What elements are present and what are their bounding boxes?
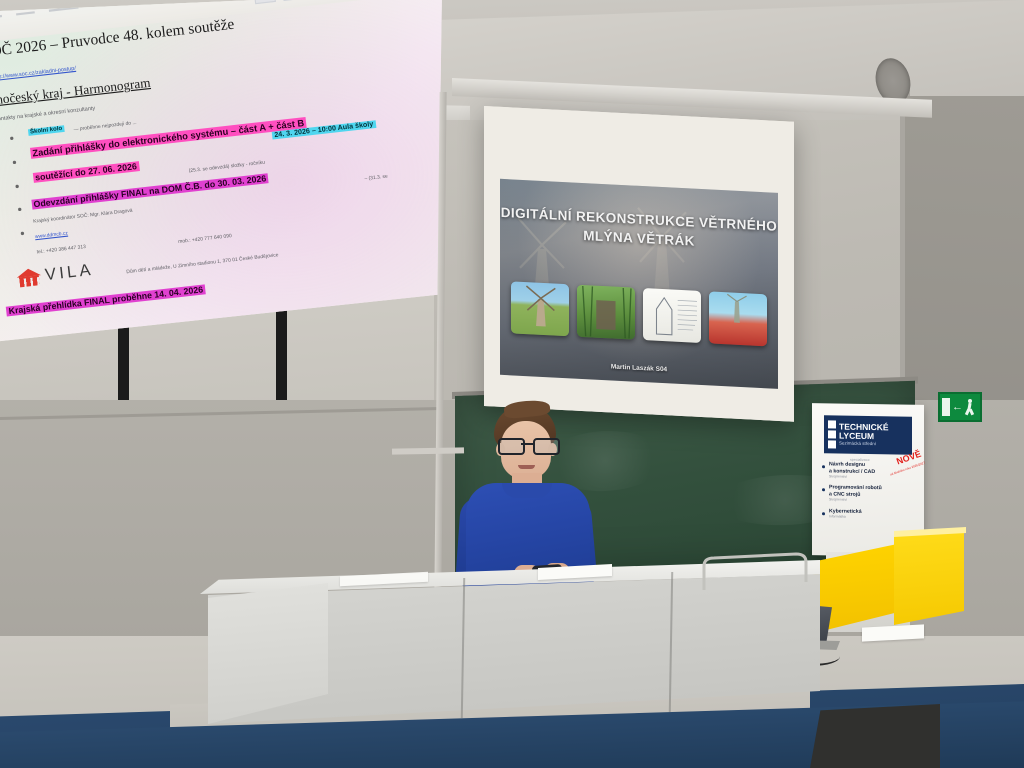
doc-line-1: Školní kolo: [28, 126, 65, 137]
presentation-slide: DIGITÁLNÍ REKONSTRUKCE VĚTRNÉHO MLÝNA VĚ…: [500, 179, 778, 389]
lecture-hall-photo: SOČ 2026 – Pruvodce 48. kolem soutěže ht…: [0, 0, 1024, 768]
poster-bullet-list: Návrh designu a konstrukcí / CAD Strojír…: [822, 461, 916, 526]
doc-org-address: Dům dětí a mládeže, U Zimního stadionu 1…: [126, 252, 279, 275]
doc-subheading-note: Kontakty na krajské a okresní konzultant…: [0, 106, 96, 124]
poster-bullet-2-sub: Strojírenství: [829, 498, 882, 503]
doc-contact-2: tel.: +420 386 447 313: [36, 243, 86, 254]
thumbnail-technical-drawing: [643, 288, 701, 343]
doc-line-7: Krajská přehlídka FINAL proběhne 14. 04.…: [6, 285, 206, 317]
doc-subheading: Jihočeský kraj - Harmonogram: [0, 75, 151, 110]
vila-logo: VILA: [16, 261, 95, 288]
doc-heading-link[interactable]: https://www.soc.cz/zakladni-postup/: [0, 65, 76, 81]
doc-line-1-note: — proběhne nejpozdeji do ...: [73, 119, 137, 132]
exit-door-icon: [942, 398, 950, 416]
house-icon: [16, 267, 42, 287]
floor-shadow-gap: [810, 704, 940, 768]
bullet-dot-icon: [822, 512, 825, 515]
collar: [502, 483, 552, 498]
doc-line-5-note: – (31.3. se: [364, 173, 388, 181]
poster-subtitle: Sezimácká střední: [839, 442, 889, 447]
bullet-dot-icon: [822, 489, 825, 492]
thumbnail-point-cloud-scan: [577, 285, 635, 340]
emergency-exit-sign: ←: [938, 392, 982, 422]
doc-line-4: soutěžící do 27. 06. 2026: [32, 161, 139, 183]
thumbnail-tulip-field-render: [709, 291, 767, 346]
doc-line-2: Zadání přihlášky do elektronického systé…: [30, 117, 307, 159]
poster-bullet-3: Kybernetická Informatika: [822, 508, 916, 520]
poster-logo: TECHNICKÉ LYCEUM Sezimácká střední: [824, 415, 912, 454]
mouth: [518, 465, 535, 469]
bullet-dot-icon: [822, 465, 825, 468]
glasses-icon: [498, 438, 556, 452]
thumbnail-windmill-photo: [511, 281, 569, 336]
desk-rail-icon: [700, 552, 820, 592]
vila-wordmark: VILA: [44, 261, 95, 285]
doc-line-4-note: (25.3. se odevzdá) složky - ročníku: [188, 159, 265, 173]
running-person-icon: [964, 399, 975, 415]
doc-line-6: Krajský koordinátor SOČ: Mgr. Klára Drag…: [33, 208, 133, 225]
logo-squares-icon: [828, 420, 836, 448]
poster-bullet-3-sub: Informatika: [829, 514, 862, 519]
document-body: SOČ 2026 – Pruvodce 48. kolem soutěže ht…: [0, 0, 460, 344]
arrow-left-icon: ←: [952, 402, 963, 413]
left-projection-screen: SOČ 2026 – Pruvodce 48. kolem soutěže ht…: [0, 0, 442, 344]
poster-bullet-1-sub: Strojírenství: [829, 474, 875, 479]
doc-contact-3: mob.: +420 777 640 090: [178, 233, 232, 244]
poster-bullet-1: Návrh designu a konstrukcí / CAD Strojír…: [822, 461, 916, 480]
right-projection-screen: DIGITÁLNÍ REKONSTRUKCE VĚTRNÉHO MLÝNA VĚ…: [484, 106, 794, 422]
poster-bullet-2: Programování robotů a CNC strojů Strojír…: [822, 485, 916, 504]
doc-contact-1[interactable]: www.ddmcb.cz: [35, 230, 68, 239]
